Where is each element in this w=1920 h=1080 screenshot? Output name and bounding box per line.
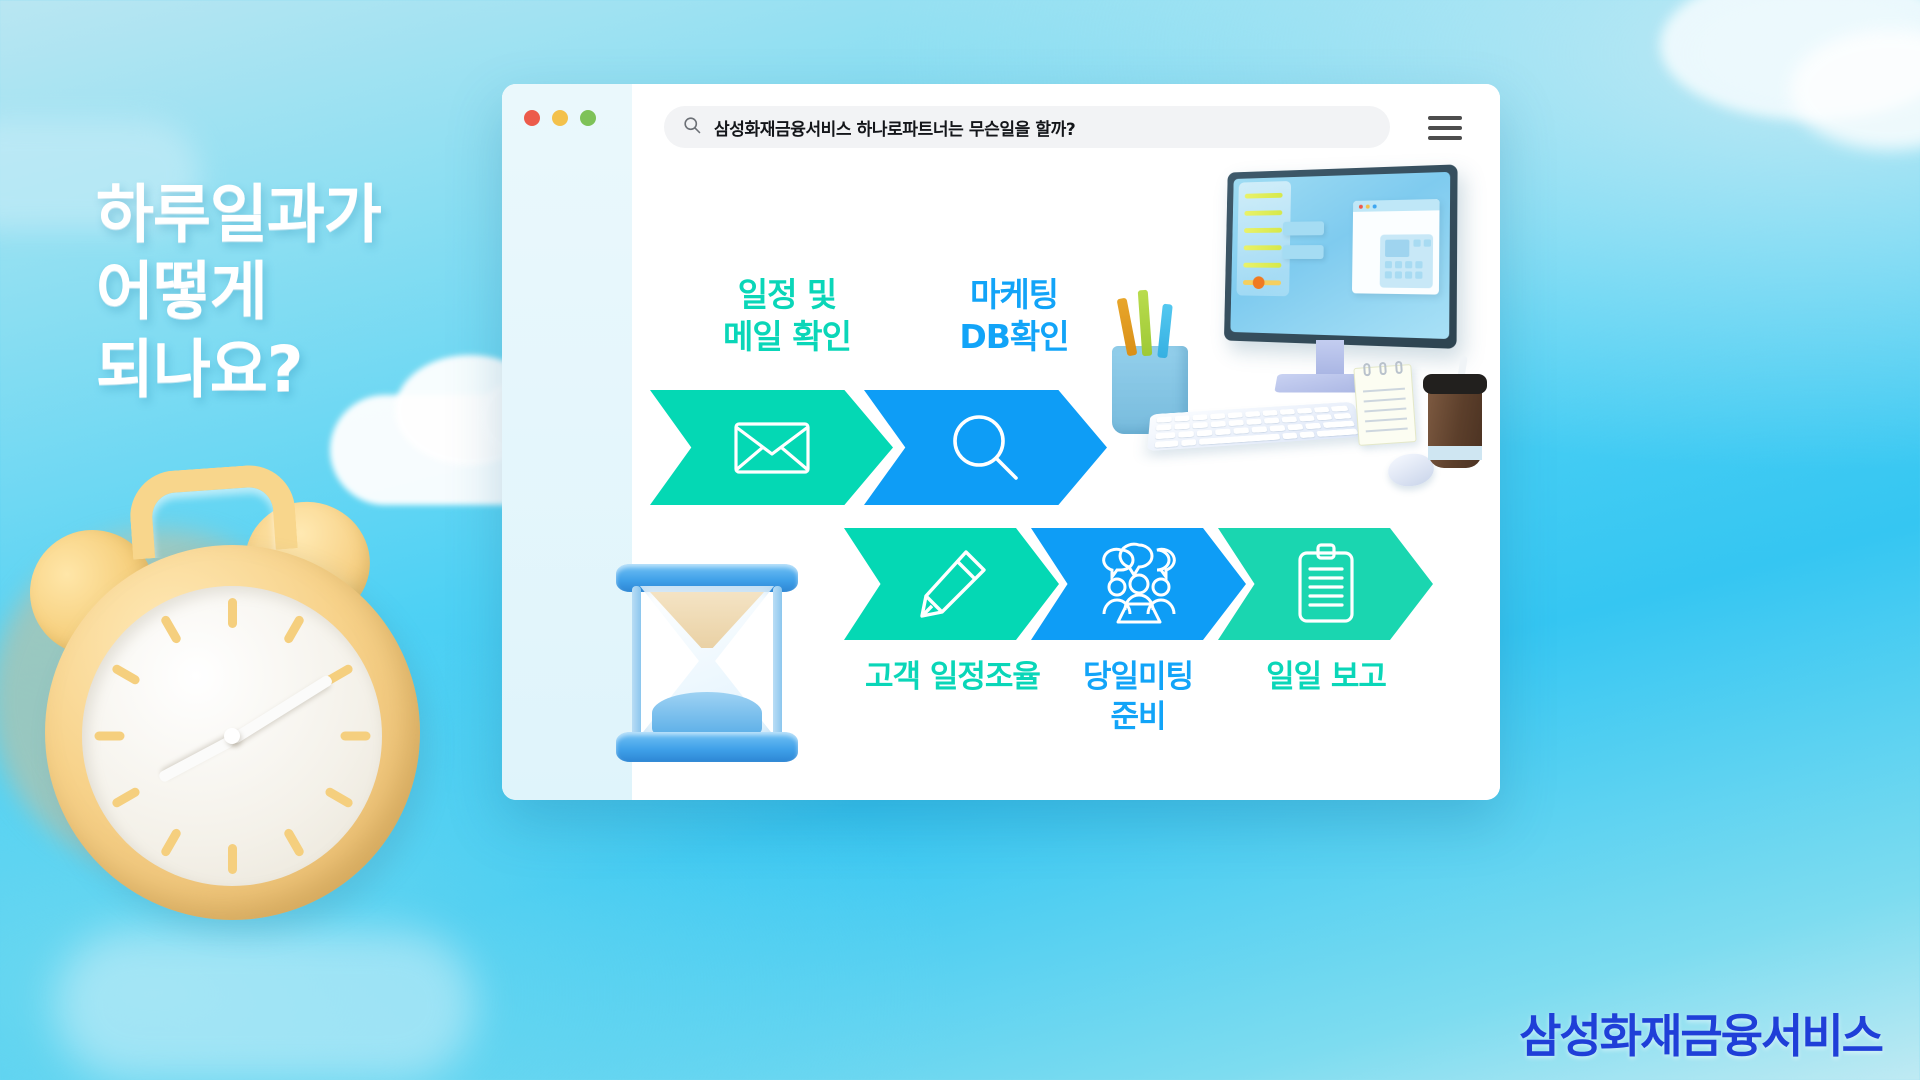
search-icon [682, 115, 702, 139]
clock-hour-hand [157, 735, 235, 783]
hourglass-illustration [602, 562, 812, 762]
coffee-lid [1423, 374, 1487, 394]
monitor-neck [1316, 340, 1344, 374]
flow-step-marketing-db[interactable] [864, 390, 1107, 505]
hourglass-sand-bottom [652, 692, 762, 734]
flow-label-schedule-mail: 일정 및 메일 확인 [672, 274, 902, 358]
flow-step-schedule-mail[interactable] [650, 390, 893, 505]
flow-label-daily-report: 일일 보고 [1220, 658, 1432, 698]
screen-sidebar-panel [1236, 181, 1291, 296]
clock-face [82, 586, 382, 886]
coffee-cup [1428, 386, 1482, 468]
hamburger-icon[interactable] [1428, 116, 1462, 140]
pencil-icon [912, 544, 992, 624]
meeting-people-icon [1091, 542, 1187, 626]
brand-wordmark: 삼성화재금융서비스 [1519, 1000, 1882, 1066]
screen-window-card [1352, 199, 1440, 295]
maximize-window-button[interactable] [580, 110, 596, 126]
notepad [1353, 364, 1416, 446]
screen-calculator-widget [1380, 234, 1433, 288]
monitor-screen [1230, 172, 1450, 339]
flow-label-meeting-prep: 당일미팅 준비 [1032, 658, 1244, 737]
flow-step-customer-scheduling[interactable] [844, 528, 1059, 640]
desk-workstation-illustration [1098, 168, 1498, 508]
close-window-button[interactable] [524, 110, 540, 126]
search-bar[interactable]: 삼성화재금융서비스 하나로파트너는 무슨일을 할까? [664, 106, 1390, 148]
minimize-window-button[interactable] [552, 110, 568, 126]
monitor [1224, 164, 1458, 348]
flow-step-meeting-prep[interactable] [1031, 528, 1246, 640]
clock-minute-hand [229, 674, 333, 745]
clock-body [45, 545, 420, 920]
coffee-band [1428, 446, 1482, 460]
envelope-icon [733, 419, 811, 477]
alarm-clock-illustration [0, 440, 460, 960]
search-input[interactable]: 삼성화재금융서비스 하나로파트너는 무슨일을 할까? [714, 115, 1075, 140]
hourglass-bottom-cap [616, 732, 798, 762]
clipboard-icon [1294, 543, 1358, 625]
hourglass-post [773, 586, 782, 736]
window-traffic-lights [524, 110, 596, 126]
page-title: 하루일과가 어떻게 되나요? [96, 176, 516, 408]
flow-step-daily-report[interactable] [1218, 528, 1433, 640]
hourglass-post [632, 586, 641, 736]
clock-center-pin [224, 728, 240, 744]
flow-label-marketing-db: 마케팅 DB확인 [904, 274, 1124, 358]
magnifier-icon [949, 411, 1023, 485]
